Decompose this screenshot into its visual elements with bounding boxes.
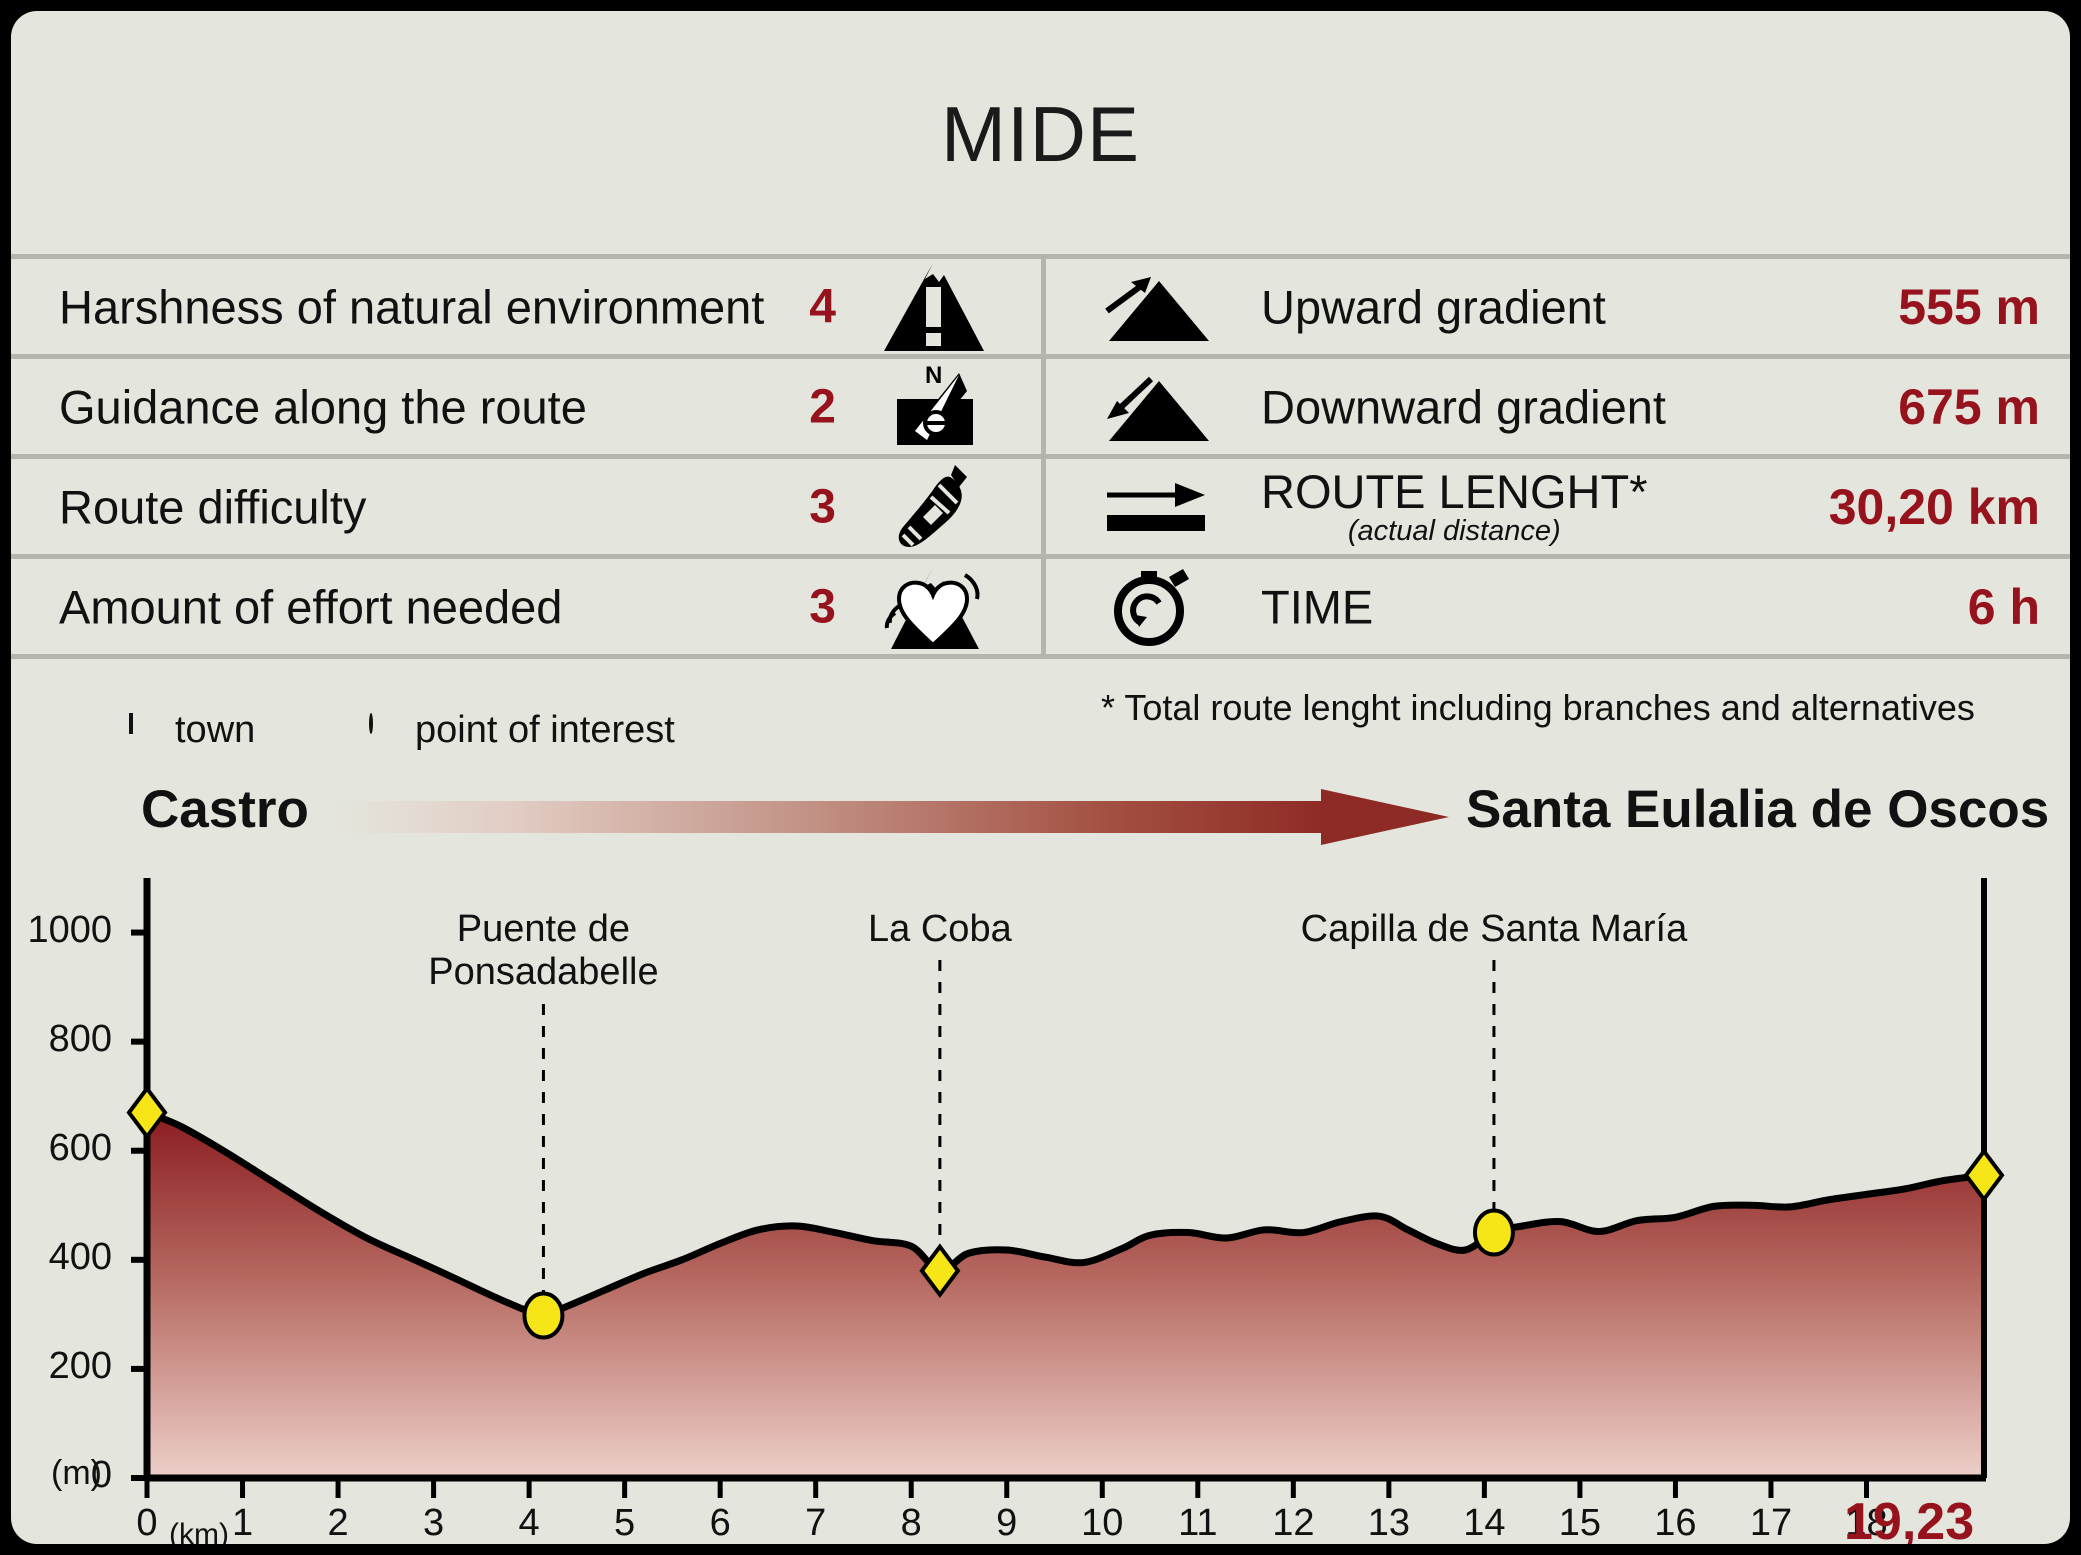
waypoint-label: Capilla de Santa María (1301, 908, 1688, 951)
x-axis-tick-label: 3 (399, 1502, 469, 1544)
mide-table: Harshness of natural environment 4 (11, 254, 2070, 664)
heart-mountain-icon (881, 561, 986, 653)
route-length-footnote: * Total route lenght including branches … (1101, 687, 1975, 729)
route-direction-arrow-icon (331, 787, 1451, 847)
stopwatch-icon (1101, 567, 1216, 647)
x-axis-tick-label: 15 (1545, 1502, 1615, 1544)
criterion-value: 3 (809, 479, 836, 534)
town-diamond-icon (129, 715, 133, 733)
poi-marker (1475, 1211, 1513, 1255)
elevation-profile-chart: 02004006008001000 (m) 012345678910111213… (11, 856, 2070, 1544)
boot-icon (881, 461, 986, 553)
criterion-value: 3 (809, 579, 836, 634)
mide-left-row-0: Harshness of natural environment 4 (11, 259, 1041, 354)
x-axis-tick-label: 17 (1736, 1502, 1806, 1544)
page-title: MIDE (11, 89, 2070, 180)
criterion-value: 4 (809, 279, 836, 334)
x-axis-unit: (km) (169, 1518, 229, 1544)
card-body: MIDE Harshness of natural environment 4 (11, 11, 2070, 1544)
poi-marker (524, 1293, 562, 1337)
mide-left-row-3: Amount of effort needed 3 (11, 559, 1041, 654)
x-axis-tick-label: 13 (1354, 1502, 1424, 1544)
x-axis-tick-label: 6 (685, 1502, 755, 1544)
metric-label: Upward gradient (1261, 279, 1606, 334)
distance-arrow-icon (1101, 467, 1216, 547)
compass-icon: N (881, 361, 986, 453)
route-direction-bar: Castro Santa Eulalia de Oscos (11, 773, 2070, 851)
mide-right-row-2: ROUTE LENGHT* (actual distance) 30,20 km (1046, 459, 2070, 554)
x-axis-tick-label: 5 (590, 1502, 660, 1544)
mide-left-row-2: Route difficulty 3 (11, 459, 1041, 554)
metric-value: 555 m (1898, 278, 2040, 336)
criterion-label: Route difficulty (59, 479, 366, 534)
mide-right-row-1: Downward gradient 675 m (1046, 359, 2070, 454)
table-row: Harshness of natural environment 4 (11, 259, 2070, 354)
x-axis-tick-label: 14 (1449, 1502, 1519, 1544)
metric-label: Downward gradient (1261, 379, 1666, 434)
uphill-icon (1101, 267, 1216, 347)
waypoint-label: La Coba (868, 908, 1012, 951)
metric-value: 675 m (1898, 378, 2040, 436)
svg-text:N: N (925, 362, 942, 389)
mide-infographic: MIDE Harshness of natural environment 4 (0, 0, 2081, 1555)
x-axis-tick-label: 10 (1067, 1502, 1137, 1544)
mide-left-row-1: Guidance along the route 2 N (11, 359, 1041, 454)
x-axis-tick-label: 11 (1163, 1502, 1233, 1544)
metric-label: TIME (1261, 579, 1373, 634)
mide-right-row-3: TIME 6 h (1046, 559, 2070, 654)
metric-label: ROUTE LENGHT* (1261, 465, 1648, 518)
table-row: Amount of effort needed 3 (11, 559, 2070, 654)
waypoint-label: Puente dePonsadabelle (428, 908, 658, 993)
x-axis-tick-label: 7 (781, 1502, 851, 1544)
mountain-warning-icon (881, 261, 986, 353)
y-axis-tick-label: 600 (11, 1127, 112, 1170)
elevation-profile-svg (11, 856, 2070, 1544)
y-axis-tick-label: 400 (11, 1236, 112, 1279)
x-axis-tick-label: 8 (876, 1502, 946, 1544)
y-axis-tick-label: 200 (11, 1345, 112, 1388)
x-axis-end-value: 19,23 (1844, 1492, 1974, 1544)
x-axis-tick-label: 16 (1640, 1502, 1710, 1544)
metric-sublabel: (actual distance) (1261, 517, 1648, 546)
y-axis-tick-label: 800 (11, 1018, 112, 1061)
criterion-label: Guidance along the route (59, 379, 587, 434)
y-axis-unit: (m) (51, 1454, 102, 1493)
criterion-label: Amount of effort needed (59, 579, 562, 634)
poi-circle-icon (369, 715, 373, 733)
table-row: Guidance along the route 2 N (11, 359, 2070, 454)
downhill-icon (1101, 367, 1216, 447)
route-start-label: Castro (141, 779, 309, 840)
route-end-label: Santa Eulalia de Oscos (1466, 779, 2049, 840)
mide-right-row-0: Upward gradient 555 m (1046, 259, 2070, 354)
x-axis-tick-label: 9 (972, 1502, 1042, 1544)
legend-label: town (175, 709, 255, 752)
metric-label-block: ROUTE LENGHT* (actual distance) (1261, 468, 1648, 546)
metric-value: 6 h (1968, 578, 2040, 636)
criterion-label: Harshness of natural environment (59, 279, 764, 334)
y-axis-tick-label: 1000 (11, 909, 112, 952)
legend-label: point of interest (415, 709, 675, 752)
x-axis-tick-label: 2 (303, 1502, 373, 1544)
x-axis-tick-label: 12 (1258, 1502, 1328, 1544)
criterion-value: 2 (809, 379, 836, 434)
table-row: Route difficulty 3 (11, 459, 2070, 554)
x-axis-tick-label: 4 (494, 1502, 564, 1544)
metric-value: 30,20 km (1829, 478, 2040, 536)
